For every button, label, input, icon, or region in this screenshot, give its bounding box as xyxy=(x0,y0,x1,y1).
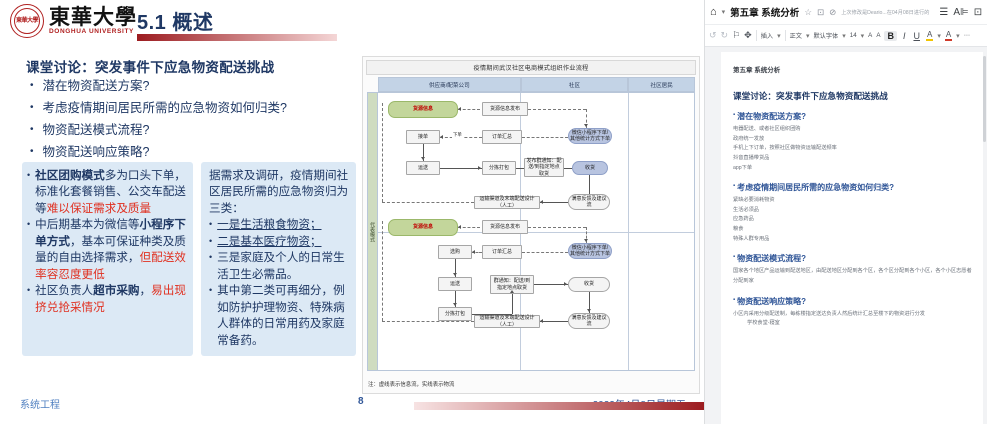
flow-edge-solid xyxy=(540,321,568,322)
increase-font-button[interactable]: A xyxy=(868,32,872,39)
flow-node: 货源信息 xyxy=(388,219,458,236)
arrow-icon xyxy=(458,225,461,229)
flow-node: 微信小程序下单/其他统计方式下单 xyxy=(568,128,612,144)
document-section-heading: ▪ 物资配送模式流程? xyxy=(733,253,973,264)
flow-edge-solid xyxy=(516,168,524,169)
document-editor-panel: ⌂ ▾ 第五章 系统分析 ☆ ⊡ ⊘ 上次修改是Deario...在04月08日… xyxy=(704,0,987,424)
document-title[interactable]: 第五章 系统分析 xyxy=(730,5,799,19)
list-item: • 一是生活粮食物资； xyxy=(209,217,349,233)
document-section-heading: ▪ 物资配送响应策略? xyxy=(733,296,973,307)
segment-plain: ， xyxy=(140,284,152,297)
flow-node: 运输渠道及末端配送设计（人工） xyxy=(474,196,540,209)
present-icon[interactable]: ⊡ xyxy=(974,7,982,18)
list-item: • 中后期基本为微信等小程序下单方式，基本可保证种类及质量的自由选择需求，但配送… xyxy=(27,217,186,283)
document-section-heading: ▪ 潜在物资配送方案? xyxy=(733,111,973,122)
question-text: 物资配送响应策略? xyxy=(43,142,150,164)
panel-left-item-2: 社区负责人超市采购，易出现挤兑抢采情况 xyxy=(35,283,186,316)
swimlane-columns: 货源信息 货源信息发布 接单 订单汇总 微信小程序下单/其他统计方式下单 运送 … xyxy=(378,92,695,371)
flow-edge-solid xyxy=(440,168,482,169)
segment-plain: 社区负责人 xyxy=(35,284,93,297)
chevron-down-icon[interactable]: ▾ xyxy=(777,32,781,40)
flow-edge-solid xyxy=(472,314,512,315)
arrow-icon xyxy=(540,319,543,323)
decrease-font-button[interactable]: A xyxy=(876,32,880,39)
outline-icon[interactable]: A⊫ xyxy=(953,7,968,18)
history-clock-icon[interactable]: ⊘ xyxy=(829,7,836,18)
last-modified-text: 上次修改是Deario...在04月08日进行的 xyxy=(841,9,929,16)
flow-edge-solid xyxy=(512,294,513,314)
list-item: • 物资配送响应策略? xyxy=(30,142,360,164)
arrow-icon xyxy=(587,309,591,312)
footer-decorative-bar xyxy=(414,402,704,410)
chevron-down-icon[interactable]: ▾ xyxy=(956,32,960,40)
question-text: 考虑疫情期间居民所需的应急物资如何归类? xyxy=(43,98,287,120)
slide-header: 東華大學 東華大學 DONGHUA UNIVERSITY 5.1 概述 xyxy=(0,0,704,46)
swimlane-header-residents: 社区居民 xyxy=(628,77,695,92)
chevron-down-icon[interactable]: ▾ xyxy=(842,32,846,40)
flow-node: 分拣打包 xyxy=(438,307,472,321)
flow-node: 运送 xyxy=(406,161,440,175)
document-h1: 课堂讨论：突发事件下应急物资配送挑战 xyxy=(733,90,973,102)
bullet-icon: • xyxy=(27,217,30,232)
arrow-icon xyxy=(453,273,457,276)
bullet-icon: • xyxy=(209,217,212,232)
chevron-down-icon[interactable]: ▾ xyxy=(806,32,810,40)
bullet-icon: • xyxy=(209,234,212,249)
document-paragraph: 应急药品 xyxy=(733,215,973,225)
figure-title: 疫情期间武汉社区电商模式组织作业流程 xyxy=(366,60,696,75)
bold-button[interactable]: B xyxy=(884,31,897,41)
panel-right-intro: 据需求及调研，疫情期间社区居民所需的应急物资归为三类： xyxy=(209,168,349,217)
title-underline-bar xyxy=(137,34,337,41)
university-logo: 東華大學 東華大學 DONGHUA UNIVERSITY xyxy=(10,4,137,38)
arrow-icon xyxy=(421,157,425,160)
figure-note: 注：虚线表示信息流，实线表示物流 xyxy=(368,380,454,388)
flow-edge-dashed xyxy=(528,227,586,228)
segment-bold: 社区团购模式 xyxy=(35,169,105,182)
document-paragraph: 小区内采用分级配送制，每栋楼指定送达负责人然后统计汇总至楼下的物资进行分发 xyxy=(733,310,973,320)
paragraph-style-select[interactable]: 正文 xyxy=(790,31,802,40)
chevron-down-icon[interactable]: ▾ xyxy=(861,32,865,40)
university-name-en: DONGHUA UNIVERSITY xyxy=(49,29,137,36)
list-item: • 物资配送模式流程? xyxy=(30,120,360,142)
flow-edge-solid xyxy=(564,168,572,169)
category-text: 三是家庭及个人的日常生活卫生必需品。 xyxy=(217,250,349,283)
chevron-down-icon[interactable]: ▾ xyxy=(722,8,726,16)
flow-edge-dashed xyxy=(382,321,474,322)
highlight-color-button[interactable]: A xyxy=(926,30,933,41)
footer-course-name: 系统工程 xyxy=(20,396,60,411)
divider xyxy=(756,30,757,41)
arrow-icon xyxy=(584,239,588,242)
vertical-lane-label: 代表模式 xyxy=(367,92,378,371)
flow-node: 满意反馈及建议流 xyxy=(568,313,610,329)
section-heading-text: 考虑疫情期间居民所需的应急物资如何归类? xyxy=(737,182,894,193)
flow-node: 收货 xyxy=(568,277,610,292)
square-bullet-icon: ▪ xyxy=(733,296,735,304)
document-paragraph: 特殊人群专用品 xyxy=(733,235,973,245)
bullet-icon: • xyxy=(27,283,30,298)
section-heading-text: 潜在物资配送方案? xyxy=(737,111,806,122)
flow-edge-dashed xyxy=(528,109,586,110)
editor-scrollbar[interactable] xyxy=(983,56,986,142)
font-family-select[interactable]: 默认字体 xyxy=(814,31,839,40)
category-text: 一是生活粮食物资； xyxy=(217,217,349,233)
arrow-icon xyxy=(478,166,481,170)
section-heading-text: 物资配送模式流程? xyxy=(737,253,806,264)
flow-node: 满意反馈及建议流 xyxy=(568,194,610,210)
document-paragraph: 生活必须品 xyxy=(733,206,973,216)
flow-node: 货源信息发布 xyxy=(482,220,528,234)
bullet-icon: • xyxy=(209,283,212,298)
font-color-button[interactable]: A xyxy=(945,30,952,41)
panel-left-item-1: 中后期基本为微信等小程序下单方式，基本可保证种类及质量的自由选择需求，但配送效率… xyxy=(35,217,186,283)
arrow-icon xyxy=(510,290,514,293)
question-list: • 潜在物资配送方案? • 考虑疫情期间居民所需的应急物资如何归类? • 物资配… xyxy=(30,76,360,164)
footer-page-number: 8 xyxy=(358,396,364,407)
presentation-slide: 東華大學 東華大學 DONGHUA UNIVERSITY 5.1 概述 课堂讨论… xyxy=(0,0,704,424)
flow-edge-solid xyxy=(589,175,590,194)
arrow-icon xyxy=(584,124,588,127)
flow-edge-dashed xyxy=(458,109,480,110)
arrow-icon xyxy=(453,303,457,306)
seal-text: 東華大學 xyxy=(16,18,38,24)
discussion-heading: 课堂讨论：突发事件下应急物资配送挑战 xyxy=(26,56,274,76)
document-section-heading: ▪ 考虑疫情期间居民所需的应急物资如何归类? xyxy=(733,182,973,193)
redo-button[interactable]: ↻ xyxy=(721,30,729,41)
insert-menu-button[interactable]: 插入 xyxy=(761,31,773,40)
document-paragraph: 手机上下订单，按照社区做物资运输配送频率 xyxy=(733,144,973,154)
question-text: 潜在物资配送方案? xyxy=(43,76,150,98)
more-options-button[interactable]: ⋯ xyxy=(964,32,970,39)
divider xyxy=(785,30,786,41)
list-item: • 社区团购模式多为口头下单，标准化套餐销售、公交车配送等难以保证需求及质量 xyxy=(27,168,186,217)
flow-edge-dashed xyxy=(522,137,568,138)
underline-button[interactable]: U xyxy=(911,31,922,41)
document-paragraph: 紧缺必要消耗物资 xyxy=(733,196,973,206)
square-bullet-icon: ▪ xyxy=(733,111,735,119)
editor-titlebar: ⌂ ▾ 第五章 系统分析 ☆ ⊡ ⊘ 上次修改是Deario...在04月08日… xyxy=(705,0,987,25)
clear-format-button[interactable]: ✥ xyxy=(744,30,752,41)
university-seal-icon: 東華大學 xyxy=(10,4,44,38)
flow-node: 货源信息 xyxy=(388,101,458,118)
bullet-icon: • xyxy=(30,76,34,95)
arrow-icon xyxy=(540,200,543,204)
list-item: • 其中第二类可再细分，例如防护护理物资、特殊病人群体的日常用药及家庭常备药。 xyxy=(209,283,349,349)
app-root: 東華大學 東華大學 DONGHUA UNIVERSITY 5.1 概述 课堂讨论… xyxy=(0,0,987,424)
segment-plain: 中后期基本为微信等 xyxy=(35,218,139,231)
square-bullet-icon: ▪ xyxy=(733,182,735,190)
flow-node: 订单汇总 xyxy=(482,245,522,259)
flow-edge-dashed xyxy=(458,227,480,228)
university-name-cn: 東華大學 xyxy=(49,6,137,27)
flow-edge-dashed xyxy=(382,221,383,321)
segment-bold: 超市采购 xyxy=(93,284,139,297)
document-paragraph: 粮食 xyxy=(733,225,973,235)
panel-supply-categories: 据需求及调研，疫情期间社区居民所需的应急物资归为三类： • 一是生活粮食物资； … xyxy=(201,162,356,356)
format-brush-button[interactable]: ⚐ xyxy=(732,30,740,41)
flow-node: 分拣打包 xyxy=(482,161,516,175)
swimlane-body: 代表模式 货源信息 货源信息发布 接单 订单汇总 微信小程序下单/其他统计方式下… xyxy=(367,92,695,371)
italic-button[interactable]: I xyxy=(901,31,908,41)
document-paragraph: 学校食堂-寝室 xyxy=(733,319,973,329)
flow-edge-dashed xyxy=(522,252,568,253)
category-text: 其中第二类可再细分，例如防护护理物资、特殊病人群体的日常用药及家庭常备药。 xyxy=(217,283,349,349)
font-size-select[interactable]: 14 xyxy=(850,32,857,39)
flow-node: 接单 xyxy=(406,130,440,144)
flow-edge-solid xyxy=(540,202,568,203)
list-item: • 考虑疫情期间居民所需的应急物资如何归类? xyxy=(30,98,360,120)
figure-body: 供应商/配菜公司 社区 社区居民 代表模式 货源信息 货源信息发布 接单 订单 xyxy=(367,77,695,371)
flow-node: 收货 xyxy=(572,161,608,175)
arrow-icon xyxy=(472,250,475,254)
list-item: • 潜在物资配送方案? xyxy=(30,76,360,98)
document-chapter-heading: 第五章 系统分析 xyxy=(733,64,973,74)
document-paragraph: 电器配送、或者社区组织团购 xyxy=(733,125,973,135)
list-item: • 二是基本医疗物资； xyxy=(209,234,349,250)
category-text: 二是基本医疗物资； xyxy=(217,234,349,250)
bullet-icon: • xyxy=(30,98,34,117)
menu-icon[interactable]: ☰ xyxy=(939,7,948,18)
square-bullet-icon: ▪ xyxy=(733,253,735,261)
document-page[interactable]: 第五章 系统分析 课堂讨论：突发事件下应急物资配送挑战 ▪ 潜在物资配送方案? … xyxy=(721,52,983,424)
list-item: • 三是家庭及个人的日常生活卫生必需品。 xyxy=(209,250,349,283)
segment-red: 难以保证需求及质量 xyxy=(47,202,151,215)
bullet-icon: • xyxy=(30,120,34,139)
swimlane-header-supplier: 供应商/配菜公司 xyxy=(378,77,521,92)
slide-title: 5.1 概述 xyxy=(137,6,213,35)
undo-button[interactable]: ↺ xyxy=(709,30,717,41)
process-flow-figure: 疫情期间武汉社区电商模式组织作业流程 供应商/配菜公司 社区 社区居民 代表模式… xyxy=(362,56,700,394)
panel-delivery-modes: • 社区团购模式多为口头下单，标准化套餐销售、公交车配送等难以保证需求及质量 •… xyxy=(22,162,193,356)
flow-node: 运输渠道及末端配送设计（人工） xyxy=(474,315,540,328)
flow-node: 订单汇总 xyxy=(482,130,522,144)
panel-left-item-0: 社区团购模式多为口头下单，标准化套餐销售、公交车配送等难以保证需求及质量 xyxy=(35,168,186,217)
edge-label: 下单 xyxy=(452,132,463,138)
editor-toolbar: ↺ ↻ ⚐ ✥ 插入 ▾ 正文 ▾ 默认字体 ▾ 14 ▾ A A B I U … xyxy=(705,25,987,47)
slide-footer: 系统工程 8 2022年4月8日星期五 xyxy=(0,396,704,412)
list-item: • 社区负责人超市采购，易出现挤兑抢采情况 xyxy=(27,283,186,316)
flow-edge-solid xyxy=(534,284,568,285)
bullet-icon: • xyxy=(30,142,34,161)
star-icon[interactable]: ☆ xyxy=(804,7,812,18)
flow-node: 运送 xyxy=(438,277,472,291)
document-paragraph: 国家各个地区产品运输到配送地区，由配送地区分配到各个区，各个区分配到各个小区，各… xyxy=(733,267,973,286)
document-paragraph: 政府统一发放 xyxy=(733,135,973,145)
flow-edge-dashed xyxy=(382,103,383,202)
section-heading-text: 物资配送响应策略? xyxy=(737,296,806,307)
arrow-icon xyxy=(458,107,461,111)
arrow-icon xyxy=(564,282,567,286)
content-panels: • 社区团购模式多为口头下单，标准化套餐销售、公交车配送等难以保证需求及质量 •… xyxy=(22,162,356,356)
swimlane-headers: 供应商/配菜公司 社区 社区居民 xyxy=(378,77,695,92)
chevron-down-icon[interactable]: ▾ xyxy=(937,32,941,40)
arrow-icon xyxy=(440,135,443,139)
flow-node: 发布群通知：配送/到指定地点取货 xyxy=(524,158,564,177)
question-text: 物资配送模式流程? xyxy=(43,120,150,142)
home-icon[interactable]: ⌂ xyxy=(710,6,717,18)
device-icon[interactable]: ⊡ xyxy=(817,7,824,18)
swimlane-header-community: 社区 xyxy=(521,77,629,92)
document-paragraph: 抖音直播带货品 xyxy=(733,154,973,164)
document-paragraph: app下单 xyxy=(733,164,973,174)
flow-node: 微信小程序下单/其他统计方式下单 xyxy=(568,243,612,259)
university-name: 東華大學 DONGHUA UNIVERSITY xyxy=(49,6,137,36)
bullet-icon: • xyxy=(27,168,30,183)
flow-edge-dashed xyxy=(382,202,474,203)
flow-node: 选购 xyxy=(438,245,472,259)
bullet-icon: • xyxy=(209,250,212,265)
flow-node: 货源信息发布 xyxy=(482,102,528,116)
